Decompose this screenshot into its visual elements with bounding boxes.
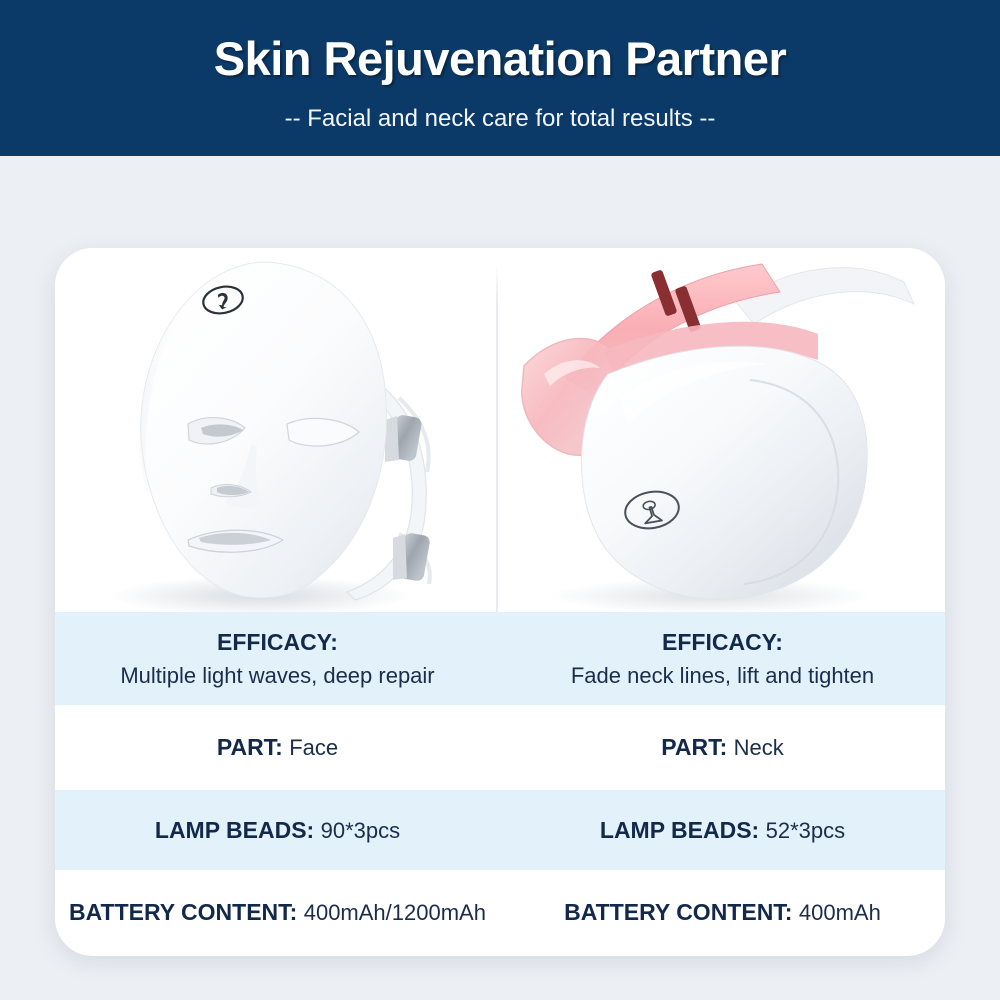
spec-row-part: PART: Face PART: Neck bbox=[55, 705, 945, 790]
spec-label-battery-content: BATTERY CONTENT: bbox=[69, 899, 304, 925]
spec-value-lamp-beads: 90*3pcs bbox=[321, 818, 401, 843]
spec-label-part: PART: bbox=[661, 734, 733, 760]
page-title: Skin Rejuvenation Partner bbox=[0, 31, 1000, 87]
led-neck-device-photo bbox=[500, 248, 945, 612]
spec-value-efficacy: Fade neck lines, lift and tighten bbox=[571, 661, 874, 691]
spec-label-lamp-beads: LAMP BEADS: bbox=[155, 817, 321, 843]
spec-value-efficacy: Multiple light waves, deep repair bbox=[120, 661, 434, 691]
spec-label-battery-content: BATTERY CONTENT: bbox=[564, 899, 799, 925]
spec-row-efficacy: EFFICACY: Multiple light waves, deep rep… bbox=[55, 612, 945, 705]
product-comparison-card: EFFICACY: Multiple light waves, deep rep… bbox=[55, 248, 945, 956]
spec-label-efficacy: EFFICACY: bbox=[217, 627, 338, 657]
spec-row-battery-content: BATTERY CONTENT: 400mAh/1200mAh BATTERY … bbox=[55, 870, 945, 955]
header-banner: Skin Rejuvenation Partner -- Facial and … bbox=[0, 0, 1000, 156]
spec-cell-battery-neck: BATTERY CONTENT: 400mAh bbox=[500, 870, 945, 955]
spec-label-efficacy: EFFICACY: bbox=[662, 627, 783, 657]
spec-value-battery-content: 400mAh/1200mAh bbox=[304, 900, 486, 925]
spec-label-part: PART: bbox=[217, 734, 289, 760]
spec-cell-efficacy-face: EFFICACY: Multiple light waves, deep rep… bbox=[55, 612, 500, 705]
spec-row-lamp-beads: LAMP BEADS: 90*3pcs LAMP BEADS: 52*3pcs bbox=[55, 790, 945, 870]
product-photo-band bbox=[55, 248, 945, 612]
neck-device-shell bbox=[581, 346, 867, 599]
spec-label-lamp-beads: LAMP BEADS: bbox=[600, 817, 766, 843]
spec-cell-battery-face: BATTERY CONTENT: 400mAh/1200mAh bbox=[55, 870, 500, 955]
spec-value-battery-content: 400mAh bbox=[799, 900, 881, 925]
spec-cell-lamp-beads-neck: LAMP BEADS: 52*3pcs bbox=[500, 790, 945, 870]
spec-cell-lamp-beads-face: LAMP BEADS: 90*3pcs bbox=[55, 790, 500, 870]
spec-rows: EFFICACY: Multiple light waves, deep rep… bbox=[55, 612, 945, 955]
spec-cell-part-neck: PART: Neck bbox=[500, 705, 945, 790]
spec-value-part: Neck bbox=[734, 735, 784, 760]
led-face-mask-photo bbox=[55, 248, 500, 612]
page-subtitle: -- Facial and neck care for total result… bbox=[0, 104, 1000, 134]
spec-cell-efficacy-neck: EFFICACY: Fade neck lines, lift and tigh… bbox=[500, 612, 945, 705]
spec-value-part: Face bbox=[289, 735, 338, 760]
spec-cell-part-face: PART: Face bbox=[55, 705, 500, 790]
spec-value-lamp-beads: 52*3pcs bbox=[766, 818, 846, 843]
